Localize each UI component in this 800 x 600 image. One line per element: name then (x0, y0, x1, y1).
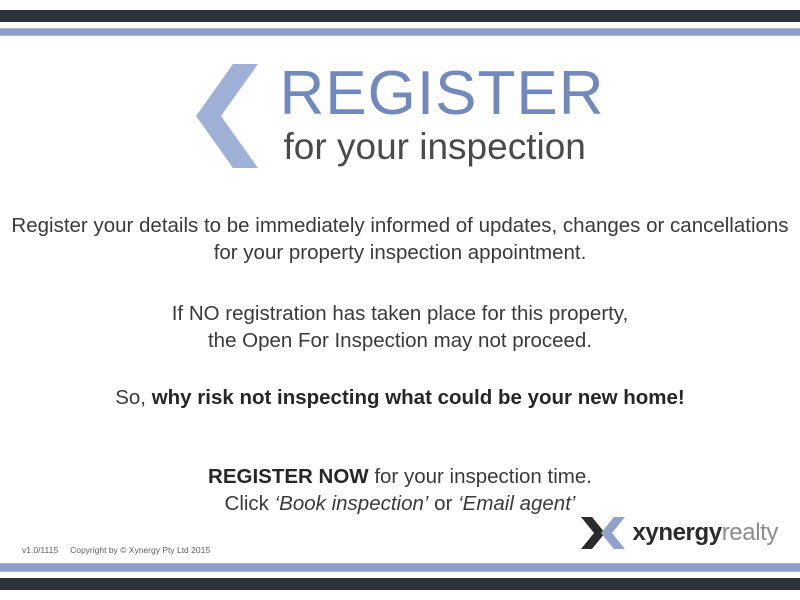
instruction-conjunction: or (428, 492, 458, 515)
brand-logo: xynergyrealty (581, 517, 778, 549)
book-inspection-reference: ‘Book inspection’ (275, 492, 429, 515)
call-to-action: REGISTER NOW for your inspection time. C… (0, 463, 800, 517)
footer: v1.0/1115Copyright by © Xynergy Pty Ltd … (22, 545, 210, 556)
flyer-page: REGISTER for your inspection Register yo… (0, 0, 800, 600)
footer-copyright: Copyright by © Xynergy Pty Ltd 2015 (70, 545, 210, 555)
call-to-action-rest: for your inspection time. (369, 465, 592, 488)
call-to-action-emphasis: REGISTER NOW (208, 465, 369, 488)
chevron-left-icon (196, 64, 258, 168)
paragraph-spacer-2 (0, 354, 800, 384)
paragraph-spacer-1 (0, 266, 800, 300)
paragraph-prompt: So, why risk not inspecting what could b… (0, 384, 800, 411)
paragraph-warning: If NO registration has taken place for t… (0, 300, 800, 354)
masthead-text: REGISTER for your inspection (280, 63, 605, 167)
paragraph-intro-text: Register your details to be immediately … (11, 214, 788, 264)
email-agent-reference: ‘Email agent’ (458, 492, 575, 515)
body-copy: Register your details to be immediately … (0, 212, 800, 517)
top-dark-rule (0, 10, 800, 22)
paragraph-warning-line-1: If NO registration has taken place for t… (172, 302, 629, 325)
bottom-dark-rule (0, 578, 800, 590)
paragraph-prompt-emphasis: why risk not inspecting what could be yo… (152, 386, 685, 409)
masthead: REGISTER for your inspection (0, 52, 800, 177)
paragraph-warning-line-2: the Open For Inspection may not proceed. (208, 329, 592, 352)
paragraph-intro: Register your details to be immediately … (0, 212, 800, 266)
xynergy-x-mark-icon (581, 517, 625, 549)
page-title: REGISTER (280, 63, 605, 125)
brand-name-primary: xynergy (632, 519, 721, 546)
top-blue-rule (0, 28, 800, 36)
page-subtitle: for your inspection (284, 127, 605, 167)
paragraph-spacer-3 (0, 411, 800, 463)
paragraph-prompt-lead: So, (115, 386, 151, 409)
brand-name-secondary: realty (722, 519, 778, 546)
brand-wordmark: xynergyrealty (632, 521, 778, 545)
footer-version: v1.0/1115 (22, 545, 58, 555)
bottom-blue-rule (0, 563, 800, 572)
instruction-prefix: Click (225, 492, 275, 515)
